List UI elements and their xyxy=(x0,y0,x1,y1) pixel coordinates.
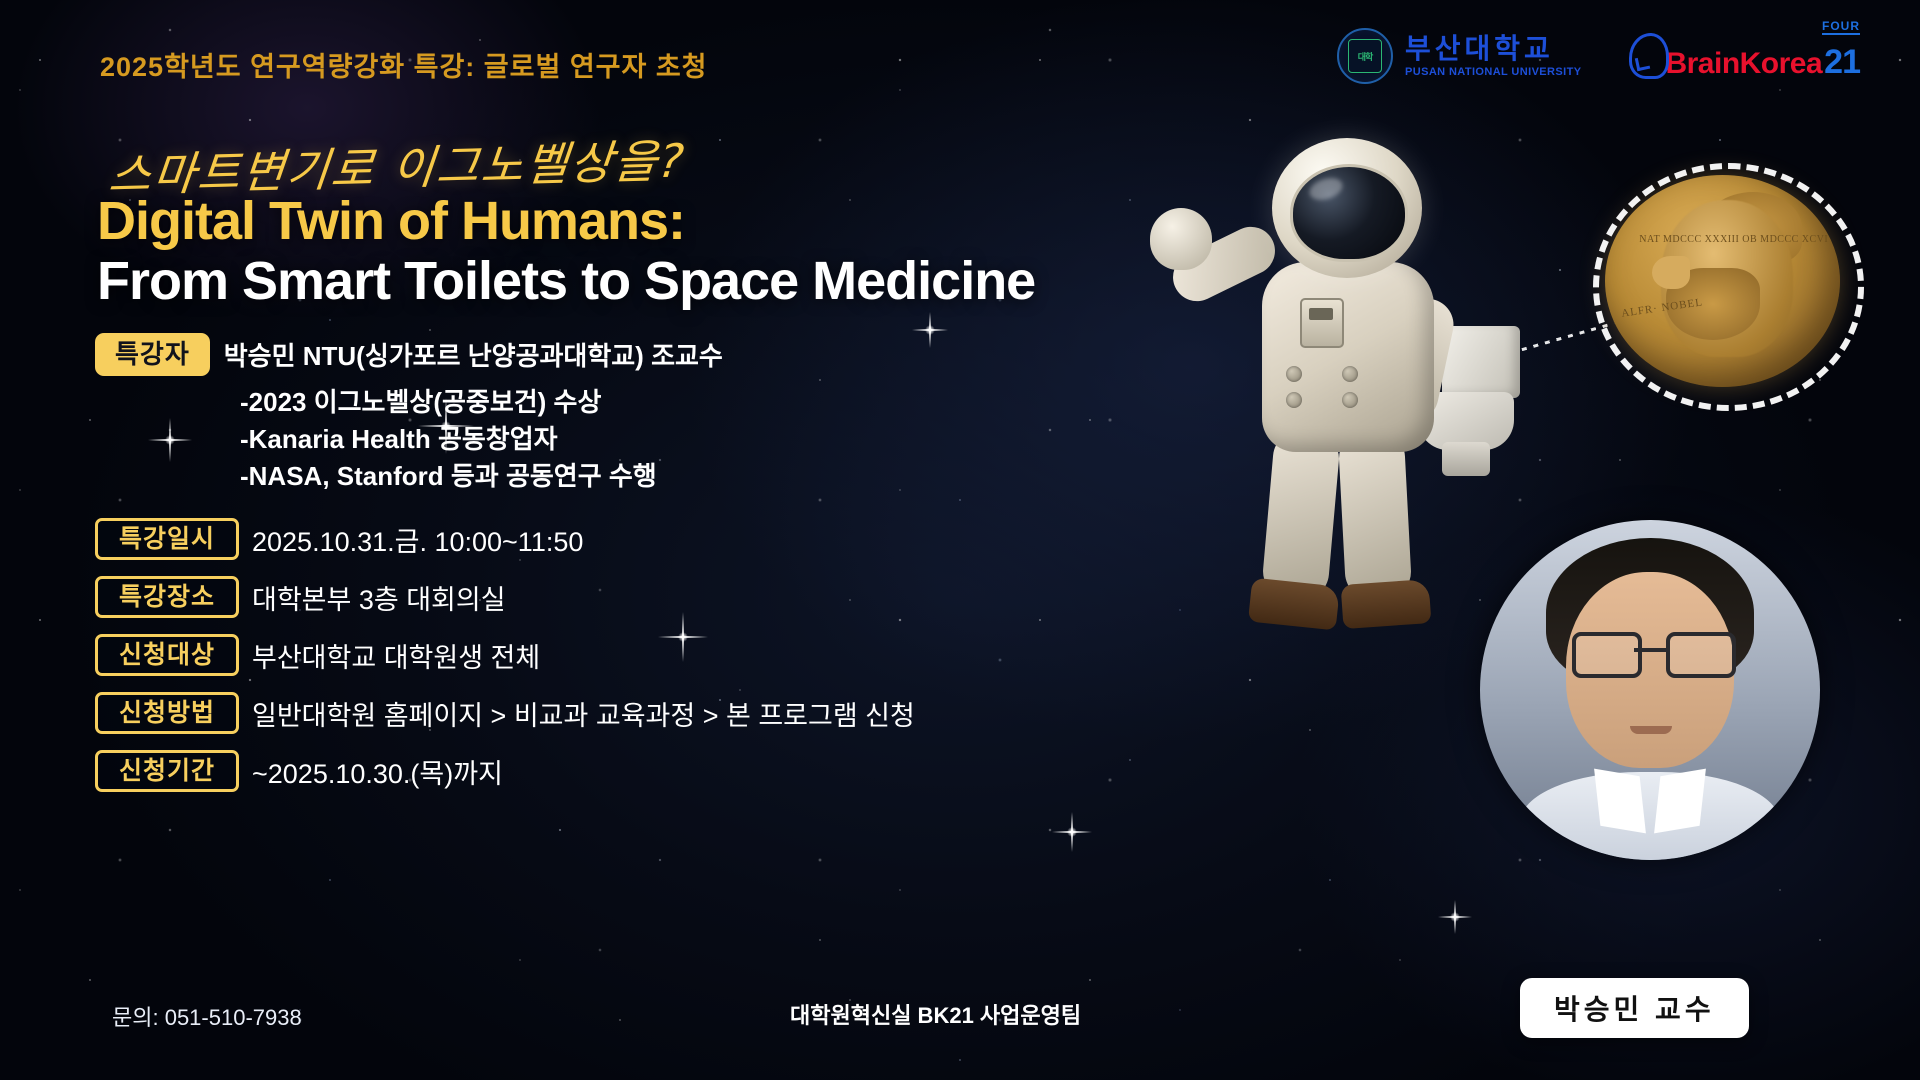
contact-phone: 문의: 051-510-7938 xyxy=(112,1000,302,1032)
list-item: -2023 이그노벨상(공중보건) 수상 xyxy=(240,384,657,421)
organizer-name: 대학원혁신실 BK21 사업운영팀 xyxy=(790,998,1081,1030)
logo-group: 대학 부산대학교 PUSAN NATIONAL UNIVERSITY Brain… xyxy=(1337,28,1860,84)
pnu-seal-icon: 대학 xyxy=(1337,28,1393,84)
info-label: 특강장소 xyxy=(95,576,239,618)
medal-dashed-ring xyxy=(1593,163,1864,411)
list-item: -Kanaria Health 공동창업자 xyxy=(240,421,657,458)
brain-head-icon xyxy=(1629,33,1669,79)
eyeglasses-left-lens xyxy=(1572,632,1642,678)
info-row-application-period: 신청기간 ~2025.10.30.(목)까지 xyxy=(95,742,915,800)
sparkle-star xyxy=(912,312,948,348)
info-value: 대학본부 3층 대회의실 xyxy=(252,578,506,617)
professor-portrait xyxy=(1480,520,1820,860)
info-value: 2025.10.31.금. 10:00~11:50 xyxy=(252,520,583,559)
pnu-name-korean: 부산대학교 xyxy=(1405,35,1581,63)
info-row-application-method: 신청방법 일반대학원 홈페이지 > 비교과 교육과정 > 본 프로그램 신청 xyxy=(95,684,915,742)
info-value: 부산대학교 대학원생 전체 xyxy=(252,636,540,675)
astronaut-suit-button xyxy=(1342,392,1358,408)
poster-title-line-1: Digital Twin of Humans: xyxy=(97,190,685,252)
pnu-seal-label: 대학 xyxy=(1358,50,1373,63)
professor-nameplate: 박승민 교수 xyxy=(1520,978,1749,1038)
speaker-name: 박승민 NTU(싱가포르 난양공과대학교) 조교수 xyxy=(224,336,723,373)
speaker-row: 특강자 박승민 NTU(싱가포르 난양공과대학교) 조교수 xyxy=(95,333,723,376)
pnu-name-english: PUSAN NATIONAL UNIVERSITY xyxy=(1405,67,1581,78)
poster-canvas: 2025학년도 연구역량강화 특강: 글로벌 연구자 초청 대학 부산대학교 P… xyxy=(0,0,1920,1080)
info-row-eligibility: 신청대상 부산대학교 대학원생 전체 xyxy=(95,626,915,684)
astronaut-chest-panel xyxy=(1300,298,1344,348)
astronaut-suit-button xyxy=(1286,392,1302,408)
speaker-credentials-list: -2023 이그노벨상(공중보건) 수상 -Kanaria Health 공동창… xyxy=(240,384,657,495)
info-label: 신청대상 xyxy=(95,634,239,676)
list-item: -NASA, Stanford 등과 공동연구 수행 xyxy=(240,458,657,495)
info-table: 특강일시 2025.10.31.금. 10:00~11:50 특강장소 대학본부… xyxy=(95,510,915,800)
pusan-national-university-logo: 대학 부산대학교 PUSAN NATIONAL UNIVERSITY xyxy=(1337,28,1581,84)
astronaut-right-leg xyxy=(1338,428,1413,601)
speaker-badge: 특강자 xyxy=(95,333,210,376)
info-value: 일반대학원 홈페이지 > 비교과 교육과정 > 본 프로그램 신청 xyxy=(252,694,915,733)
astronaut-left-boot xyxy=(1248,578,1340,631)
astronaut-right-boot xyxy=(1341,579,1432,629)
sparkle-star xyxy=(148,418,192,462)
bk21-wordmark: BrainKorea xyxy=(1665,49,1822,79)
brain-korea-21-logo: BrainKorea 21 FOUR xyxy=(1629,33,1860,79)
sparkle-star xyxy=(1052,812,1092,852)
header-kicker: 2025학년도 연구역량강화 특강: 글로벌 연구자 초청 xyxy=(100,45,708,84)
astronaut-visor xyxy=(1290,164,1408,262)
astronaut-torso xyxy=(1262,262,1434,452)
bk21-number: 21 xyxy=(1824,45,1860,79)
astronaut-glove xyxy=(1150,208,1212,270)
info-row-lecture-datetime: 특강일시 2025.10.31.금. 10:00~11:50 xyxy=(95,510,915,568)
astronaut-left-leg xyxy=(1261,427,1342,602)
astronaut-suit-button xyxy=(1342,366,1358,382)
info-label: 신청방법 xyxy=(95,692,239,734)
info-value: ~2025.10.30.(목)까지 xyxy=(252,752,503,791)
bk21-four-label: FOUR xyxy=(1822,19,1860,35)
sparkle-star xyxy=(1438,900,1472,934)
info-label: 신청기간 xyxy=(95,750,239,792)
astronaut-suit-button xyxy=(1286,366,1302,382)
info-label: 특강일시 xyxy=(95,518,239,560)
poster-title-line-2: From Smart Toilets to Space Medicine xyxy=(97,250,1035,312)
eyeglasses-right-lens xyxy=(1666,632,1736,678)
info-row-lecture-venue: 특강장소 대학본부 3층 대회의실 xyxy=(95,568,915,626)
